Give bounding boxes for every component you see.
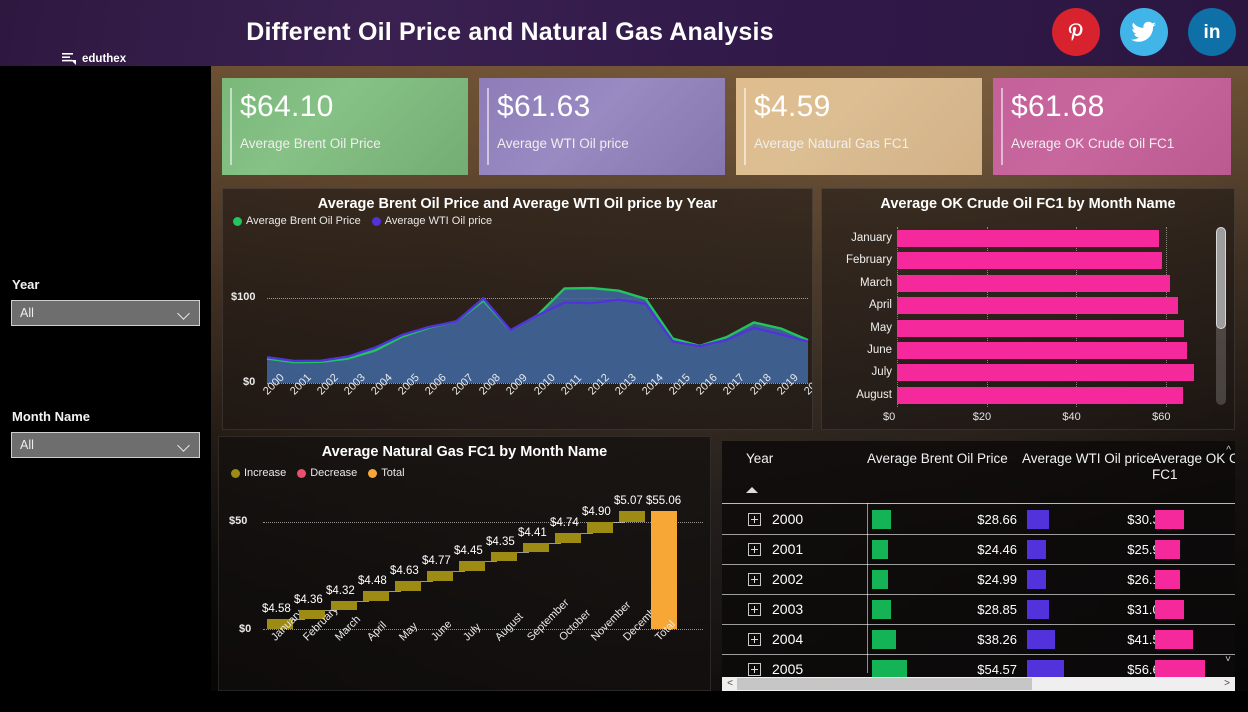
table-scroll-up-icon[interactable]: ^ — [1226, 445, 1231, 456]
filters-sidebar: Year All Month Name All — [0, 66, 211, 691]
kpi-label: Average OK Crude Oil FC1 — [1011, 136, 1174, 151]
month-filter-label: Month Name — [12, 409, 90, 424]
waterfall-title: Average Natural Gas FC1 by Month Name — [219, 444, 710, 460]
waterfall-connector — [549, 543, 561, 544]
table-bar-brent — [872, 600, 891, 619]
kpi-value: $61.68 — [1011, 90, 1105, 124]
bar-category-label: January — [828, 232, 892, 244]
table-cell-wti: $56.64 — [1062, 662, 1167, 677]
brand-name: eduthex — [82, 53, 126, 65]
table-bar-ok-crude — [1155, 630, 1193, 649]
x-axis-tick: May — [397, 620, 420, 643]
kpi-card-brent[interactable]: $64.10 Average Brent Oil Price — [222, 78, 468, 175]
bar-category-label: March — [828, 277, 892, 289]
data-table[interactable]: YearAverage Brent Oil PriceAverage WTI O… — [722, 441, 1235, 691]
table-column-header[interactable]: Average OK Crude Oil FC1 — [1152, 451, 1235, 483]
table-cell-year: 2002 — [772, 571, 803, 587]
waterfall-step-bar[interactable] — [427, 571, 453, 581]
expand-row-icon[interactable] — [748, 603, 761, 616]
kpi-accent-bar — [230, 88, 232, 165]
expand-row-icon[interactable] — [748, 543, 761, 556]
table-cell-wti: $25.98 — [1062, 542, 1167, 557]
chevron-down-icon — [178, 307, 191, 320]
kpi-value: $4.59 — [754, 90, 831, 124]
table-row[interactable]: 2004$38.26$41.51 — [722, 625, 1235, 655]
waterfall-step-bar[interactable] — [491, 552, 517, 561]
table-bar-brent — [872, 510, 891, 529]
table-hscroll-thumb[interactable] — [737, 678, 1032, 690]
x-axis-tick: $40 — [1062, 411, 1080, 423]
table-cell-brent: $24.46 — [912, 542, 1017, 557]
x-axis-tick: $0 — [883, 411, 895, 423]
table-row[interactable]: 2002$24.99$26.18 — [722, 565, 1235, 595]
waterfall-value-label: $55.06 — [646, 495, 681, 507]
table-cell-wti: $31.08 — [1062, 602, 1167, 617]
pinterest-glyph — [1063, 19, 1089, 45]
waterfall-step-bar[interactable] — [555, 533, 581, 543]
kpi-label: Average WTI Oil price — [497, 136, 629, 151]
legend-label-decrease: Decrease — [310, 467, 357, 479]
waterfall-value-label: $4.48 — [358, 575, 387, 587]
kpi-label: Average Brent Oil Price — [240, 136, 381, 151]
waterfall-connector — [389, 591, 401, 592]
bar-segment[interactable] — [897, 342, 1187, 359]
table-bar-brent — [872, 540, 888, 559]
waterfall-step-bar[interactable] — [331, 601, 357, 610]
table-bar-ok-crude — [1155, 540, 1180, 559]
kpi-card-wti[interactable]: $61.63 Average WTI Oil price — [479, 78, 725, 175]
waterfall-gridline-50 — [263, 522, 703, 523]
kpi-card-natural-gas[interactable]: $4.59 Average Natural Gas FC1 — [736, 78, 982, 175]
month-slicer-value: All — [20, 438, 178, 452]
x-axis-tick: $20 — [973, 411, 991, 423]
waterfall-connector — [453, 571, 465, 572]
table-bar-ok-crude — [1155, 510, 1184, 529]
bar-segment[interactable] — [897, 297, 1178, 314]
bar-segment[interactable] — [897, 230, 1159, 247]
x-axis-tick: April — [365, 619, 389, 643]
table-cell-year: 2004 — [772, 631, 803, 647]
waterfall-value-label: $4.63 — [390, 565, 419, 577]
legend-label-total: Total — [381, 467, 404, 479]
waterfall-legend: Increase Decrease Total — [231, 467, 405, 479]
table-cell-wti: $26.18 — [1062, 572, 1167, 587]
table-header-divider — [722, 503, 1235, 504]
bar-chart-title: Average OK Crude Oil FC1 by Month Name — [822, 196, 1234, 212]
waterfall-connector — [517, 552, 529, 553]
legend-label-increase: Increase — [244, 467, 286, 479]
waterfall-value-label: $4.45 — [454, 545, 483, 557]
legend-swatch-increase — [231, 469, 240, 478]
table-column-header[interactable]: Year — [746, 451, 856, 467]
waterfall-connector — [613, 522, 625, 523]
waterfall-connector — [581, 533, 593, 534]
table-row[interactable]: 2000$28.66$30.38 — [722, 505, 1235, 535]
waterfall-step-bar[interactable] — [395, 581, 421, 591]
legend-swatch-total — [368, 469, 377, 478]
sort-ascending-icon[interactable] — [746, 487, 758, 493]
twitter-glyph — [1131, 21, 1157, 43]
page-title: Different Oil Price and Natural Gas Anal… — [0, 18, 1020, 47]
table-cell-year: 2003 — [772, 601, 803, 617]
bar-category-label: April — [828, 299, 892, 311]
bar-segment[interactable] — [897, 387, 1183, 404]
expand-row-icon[interactable] — [748, 663, 761, 676]
x-axis-tick: June — [429, 618, 454, 643]
waterfall-value-label: $4.35 — [486, 536, 515, 548]
waterfall-value-label: $4.36 — [294, 594, 323, 606]
waterfall-value-label: $4.77 — [422, 555, 451, 567]
table-bar-wti — [1027, 600, 1049, 619]
x-axis-tick: $60 — [1152, 411, 1170, 423]
app-header: Different Oil Price and Natural Gas Anal… — [0, 0, 1248, 66]
waterfall-y-tick-0: $0 — [239, 623, 251, 635]
table-row[interactable]: 2003$28.85$31.08 — [722, 595, 1235, 625]
bar-segment[interactable] — [897, 275, 1170, 292]
brand-logo[interactable]: eduthex — [62, 52, 126, 66]
table-bar-wti — [1027, 510, 1049, 529]
area-chart-plot — [223, 189, 813, 430]
expand-row-icon[interactable] — [748, 573, 761, 586]
waterfall-total-bar[interactable] — [651, 511, 677, 629]
kpi-accent-bar — [487, 88, 489, 165]
twitter-icon[interactable] — [1120, 8, 1168, 56]
scroll-left-icon[interactable]: ˂ — [724, 678, 736, 689]
month-slicer-dropdown[interactable]: All — [11, 432, 200, 458]
bar-segment[interactable] — [897, 320, 1184, 337]
eduthex-mark-icon — [62, 52, 77, 66]
waterfall-value-label: $4.90 — [582, 506, 611, 518]
waterfall-step-bar[interactable] — [459, 561, 485, 571]
table-cell-year: 2005 — [772, 661, 803, 677]
bar-category-label: February — [828, 254, 892, 266]
waterfall-y-tick-50: $50 — [229, 515, 247, 527]
bar-segment[interactable] — [897, 364, 1194, 381]
x-axis-tick: July — [461, 621, 483, 643]
table-column-header[interactable]: Average WTI Oil price — [1022, 451, 1167, 467]
waterfall-panel[interactable]: Average Natural Gas FC1 by Month Name In… — [218, 436, 711, 691]
waterfall-value-label: $4.32 — [326, 585, 355, 597]
table-scroll-down-icon[interactable]: ˅ — [1225, 654, 1231, 665]
kpi-accent-bar — [1001, 88, 1003, 165]
waterfall-connector — [421, 581, 433, 582]
waterfall-step-bar[interactable] — [619, 511, 645, 522]
waterfall-connector — [357, 601, 369, 602]
table-row[interactable]: 2001$24.46$25.98 — [722, 535, 1235, 565]
bar-category-label: May — [828, 322, 892, 334]
table-bar-ok-crude — [1155, 570, 1180, 589]
waterfall-value-label: $4.58 — [262, 603, 291, 615]
table-bar-brent — [872, 570, 888, 589]
table-cell-brent: $24.99 — [912, 572, 1017, 587]
area-chart-panel[interactable]: Average Brent Oil Price and Average WTI … — [222, 188, 813, 430]
expand-row-icon[interactable] — [748, 633, 761, 646]
waterfall-step-bar[interactable] — [587, 522, 613, 533]
table-cell-year: 2000 — [772, 511, 803, 527]
table-cell-wti: $41.51 — [1062, 632, 1167, 647]
bar-segment[interactable] — [897, 252, 1162, 269]
bar-chart-scrollbar-track[interactable] — [1216, 227, 1226, 405]
legend-item-decrease[interactable]: Decrease — [297, 467, 357, 479]
waterfall-value-label: $4.74 — [550, 517, 579, 529]
linkedin-icon[interactable]: in — [1188, 8, 1236, 56]
table-cell-brent: $28.85 — [912, 602, 1017, 617]
table-horizontal-scrollbar[interactable]: ˂ ˃ — [722, 677, 1235, 691]
bar-category-label: July — [828, 366, 892, 378]
table-column-header[interactable]: Average Brent Oil Price — [867, 451, 1012, 467]
year-slicer-dropdown[interactable]: All — [11, 300, 200, 326]
table-bar-brent — [872, 630, 896, 649]
waterfall-value-label: $5.07 — [614, 495, 643, 507]
table-cell-brent: $54.57 — [912, 662, 1017, 677]
table-cell-wti: $30.38 — [1062, 512, 1167, 527]
legend-item-total[interactable]: Total — [368, 467, 404, 479]
expand-row-icon[interactable] — [748, 513, 761, 526]
kpi-label: Average Natural Gas FC1 — [754, 136, 909, 151]
table-cell-brent: $38.26 — [912, 632, 1017, 647]
table-cell-year: 2001 — [772, 541, 803, 557]
kpi-value: $64.10 — [240, 90, 334, 124]
table-cell-brent: $28.66 — [912, 512, 1017, 527]
linkedin-glyph: in — [1204, 23, 1221, 42]
waterfall-step-bar[interactable] — [523, 543, 549, 552]
waterfall-connector — [485, 561, 497, 562]
bar-chart-scrollbar-thumb[interactable] — [1216, 227, 1226, 329]
kpi-value: $61.63 — [497, 90, 591, 124]
bar-category-label: June — [828, 344, 892, 356]
scroll-right-icon[interactable]: ˃ — [1221, 678, 1233, 689]
year-slicer-value: All — [20, 306, 178, 320]
table-bar-wti — [1027, 570, 1046, 589]
pinterest-icon[interactable] — [1052, 8, 1100, 56]
table-bar-ok-crude — [1155, 600, 1184, 619]
ok-crude-bar-panel[interactable]: Average OK Crude Oil FC1 by Month Name $… — [821, 188, 1235, 430]
bar-category-label: August — [828, 389, 892, 401]
dashboard-root: Different Oil Price and Natural Gas Anal… — [0, 0, 1248, 712]
chevron-down-icon — [178, 439, 191, 452]
kpi-card-ok-crude[interactable]: $61.68 Average OK Crude Oil FC1 — [993, 78, 1231, 175]
kpi-accent-bar — [744, 88, 746, 165]
x-axis-tick: August — [493, 611, 526, 644]
legend-item-increase[interactable]: Increase — [231, 467, 286, 479]
waterfall-step-bar[interactable] — [363, 591, 389, 601]
table-bar-wti — [1027, 540, 1046, 559]
year-filter-label: Year — [12, 277, 39, 292]
table-bar-wti — [1027, 630, 1055, 649]
legend-swatch-decrease — [297, 469, 306, 478]
waterfall-value-label: $4.41 — [518, 527, 547, 539]
social-links: in — [1052, 8, 1236, 56]
